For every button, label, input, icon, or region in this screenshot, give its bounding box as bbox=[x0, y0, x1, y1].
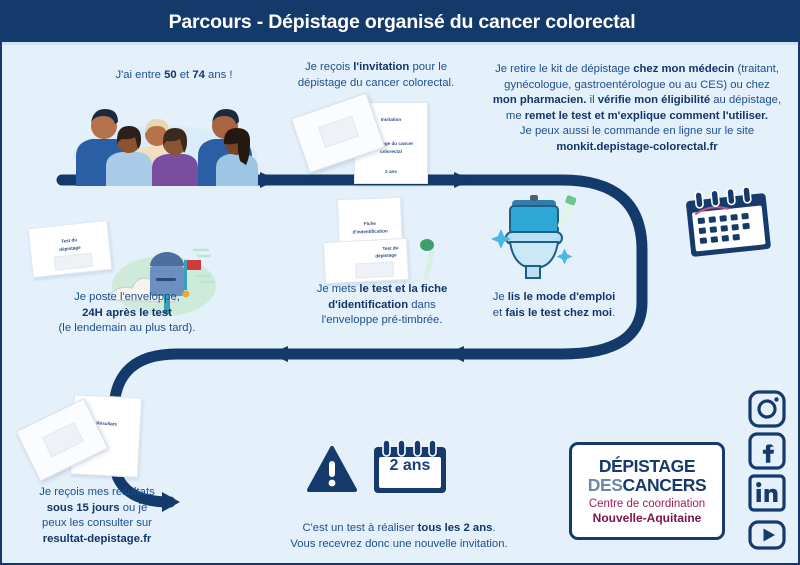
text-kit: Je retire le kit de dépistage chez mon m… bbox=[474, 62, 800, 155]
two-years-label: 2 ans bbox=[370, 457, 450, 475]
calendar-icon bbox=[682, 185, 774, 257]
freq-p2: . bbox=[492, 522, 495, 534]
text-post: Je poste l'enveloppe, 24H après le test … bbox=[2, 290, 252, 337]
read-p1: Je bbox=[493, 291, 508, 303]
youtube-icon[interactable] bbox=[748, 516, 786, 554]
facebook-icon[interactable] bbox=[748, 432, 786, 470]
age-part-1: J'ai entre bbox=[115, 69, 164, 81]
kit-p4: au dépistage, bbox=[710, 94, 781, 106]
frequency-line-1: C'est un test à réaliser tous les 2 ans. bbox=[254, 521, 544, 537]
read-p3: . bbox=[612, 307, 615, 319]
post-strong: 24H après le test bbox=[82, 307, 172, 319]
fiche-doc-line-2: d'indentification bbox=[339, 228, 401, 235]
results-line-3: peux les consulter sur bbox=[2, 516, 192, 532]
age-max: 74 bbox=[192, 69, 205, 81]
kit-strong-4: remet le test et m'explique comment l'ut… bbox=[525, 110, 768, 122]
kit-line-5: Je peux aussi le commande en ligne sur l… bbox=[474, 124, 800, 140]
kit-line-2: gynécologue, gastroentérologue ou au CES… bbox=[474, 78, 800, 94]
two-years-calendar-icon: 2 ans bbox=[370, 439, 450, 495]
envelope-window bbox=[318, 115, 359, 148]
results-line-2: sous 15 jours ou je bbox=[2, 501, 192, 517]
env-strong-2: d'identification bbox=[328, 299, 408, 311]
fiche-doc-line-1: Fiche bbox=[339, 220, 401, 227]
text-invitation: Je reçois l'invitation pour le dépistage… bbox=[270, 60, 482, 91]
logo-line-1: DÉPISTAGE bbox=[599, 457, 695, 476]
test-doc-mail-window bbox=[54, 253, 93, 271]
kit-line-6[interactable]: monkit.depistage-colorectal.fr bbox=[474, 140, 800, 156]
warning-icon bbox=[307, 445, 357, 493]
invitation-line-1: Je reçois l'invitation pour le bbox=[270, 60, 482, 76]
kit-line-1: Je retire le kit de dépistage chez mon m… bbox=[474, 62, 800, 78]
results-strong: sous 15 jours bbox=[47, 502, 120, 514]
results-p1: ou je bbox=[120, 502, 148, 514]
kit-line-4: me remet le test et m'explique comment l… bbox=[474, 109, 800, 125]
age-part-2: et bbox=[177, 69, 193, 81]
results-envelope-window bbox=[42, 422, 84, 458]
kit-p2: (traitant, bbox=[734, 63, 779, 75]
text-envelope: Je mets le test et la fiche d'identifica… bbox=[284, 282, 480, 329]
text-read: Je lis le mode d'emploi et fais le test … bbox=[464, 290, 644, 321]
social-links bbox=[748, 390, 790, 558]
freq-p1: C'est un test à réaliser bbox=[302, 522, 417, 534]
results-line-1: Je reçois mes résultats bbox=[2, 485, 192, 501]
linkedin-icon[interactable] bbox=[748, 474, 786, 512]
people-group-illustration bbox=[70, 94, 260, 186]
kit-strong-1: chez mon médecin bbox=[633, 63, 734, 75]
age-line: J'ai entre 50 et 74 ans ! bbox=[115, 69, 232, 81]
invitation-line-2: dépistage du cancer colorectal. bbox=[270, 76, 482, 92]
post-line-2: 24H après le test bbox=[2, 306, 252, 322]
instagram-icon[interactable] bbox=[748, 390, 786, 428]
post-line-1: Je poste l'enveloppe, bbox=[2, 290, 252, 306]
envelope-line-3: l'enveloppe pré-timbrée. bbox=[284, 313, 480, 329]
logo-des: DES bbox=[588, 475, 623, 495]
toilet-illustration bbox=[490, 188, 576, 280]
env-p2: dans bbox=[408, 299, 436, 311]
logo-line-3: Centre de coordination bbox=[589, 497, 705, 511]
invitation-illustration: Invitation dépistage du cancer colorecta… bbox=[298, 98, 426, 184]
envelope-line-2: d'identification dans bbox=[284, 298, 480, 314]
inv-strong: l'invitation bbox=[353, 61, 409, 73]
read-strong-1: lis le mode d'emploi bbox=[508, 291, 616, 303]
organization-logo: DÉPISTAGE DESCANCERS Centre de coordinat… bbox=[569, 442, 725, 540]
results-illustration: Résultats bbox=[24, 394, 154, 476]
infographic-page: Parcours - Dépistage organisé du cancer … bbox=[0, 0, 800, 565]
test-document: Test du dépistage bbox=[323, 238, 409, 284]
frequency-line-2: Vous recevrez donc une nouvelle invitati… bbox=[254, 537, 544, 553]
env-strong-1: le test et la fiche bbox=[359, 283, 447, 295]
read-line-2: et fais le test chez moi. bbox=[464, 306, 644, 322]
kit-p1: Je retire le kit de dépistage bbox=[495, 63, 633, 75]
read-strong-2: fais le test chez moi bbox=[505, 307, 612, 319]
kit-line-3: mon pharmacien. il vérifie mon éligibili… bbox=[474, 93, 800, 109]
logo-line-4: Nouvelle-Aquitaine bbox=[593, 511, 702, 525]
kit-website-link[interactable]: monkit.depistage-colorectal.fr bbox=[556, 141, 717, 153]
inv-p1: Je reçois bbox=[305, 61, 353, 73]
age-part-3: ans ! bbox=[205, 69, 233, 81]
kit-p3: il bbox=[586, 94, 597, 106]
post-line-3: (le lendemain au plus tard). bbox=[2, 321, 252, 337]
kit-p5: me bbox=[506, 110, 525, 122]
text-frequency: C'est un test à réaliser tous les 2 ans.… bbox=[254, 521, 544, 552]
logo-cancers: CANCERS bbox=[623, 475, 707, 495]
sample-stick-icon bbox=[416, 236, 442, 280]
read-line-1: Je lis le mode d'emploi bbox=[464, 290, 644, 306]
results-website-link[interactable]: resultat-depistage.fr bbox=[43, 533, 152, 545]
kit-strong-3: vérifie mon éligibilité bbox=[598, 94, 710, 106]
envelope-line-1: Je mets le test et la fiche bbox=[284, 282, 480, 298]
text-results: Je reçois mes résultats sous 15 jours ou… bbox=[2, 485, 192, 547]
text-age: J'ai entre 50 et 74 ans ! bbox=[74, 68, 274, 84]
results-line-4[interactable]: resultat-depistage.fr bbox=[2, 532, 192, 548]
test-doc-window bbox=[355, 262, 394, 279]
freq-strong: tous les 2 ans bbox=[418, 522, 493, 534]
age-min: 50 bbox=[164, 69, 177, 81]
logo-line-2: DESCANCERS bbox=[588, 476, 707, 495]
documents-illustration: Fiche d'indentification Test du dépistag… bbox=[324, 198, 450, 280]
env-p1: Je mets bbox=[317, 283, 360, 295]
invitation-doc-line-4: 2 ans bbox=[355, 169, 427, 174]
kit-strong-2: mon pharmacien. bbox=[493, 94, 587, 106]
inv-p2: pour le bbox=[409, 61, 447, 73]
read-p2: et bbox=[493, 307, 506, 319]
test-document-mailbox: Test du dépistage bbox=[28, 220, 113, 278]
